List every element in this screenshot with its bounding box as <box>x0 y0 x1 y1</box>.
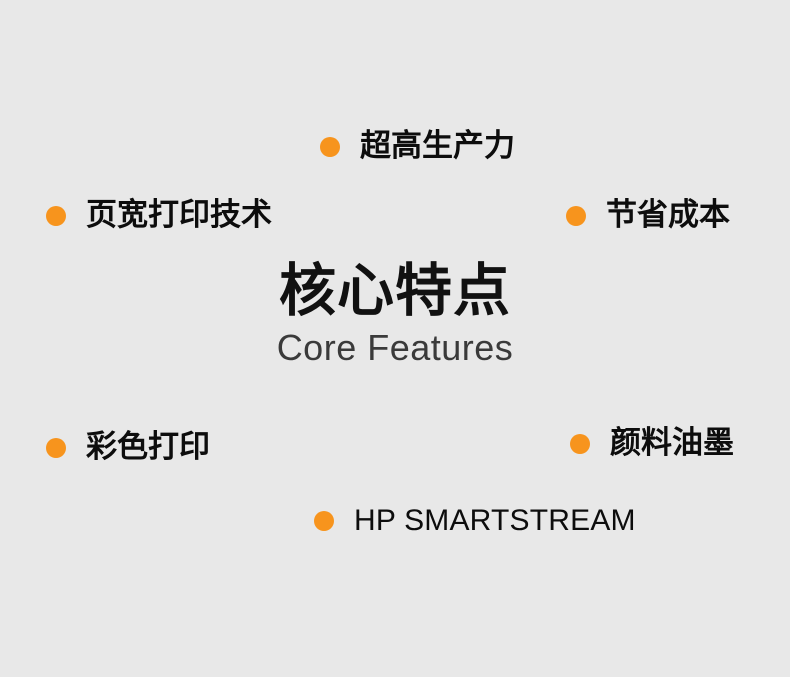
feature-item-label: 颜料油墨 <box>610 428 734 459</box>
orange-dot-icon <box>314 511 334 531</box>
feature-item-color-printing: 彩色打印 <box>46 432 210 463</box>
feature-item-label: 超高生产力 <box>360 131 515 162</box>
feature-item-label: 页宽打印技术 <box>86 200 272 231</box>
orange-dot-icon <box>46 438 66 458</box>
feature-item-pigment-ink: 颜料油墨 <box>570 428 734 459</box>
orange-dot-icon <box>570 434 590 454</box>
feature-item-pagewide-printing: 页宽打印技术 <box>46 200 272 231</box>
feature-item-cost-saving: 节省成本 <box>566 200 730 231</box>
feature-item-productivity: 超高生产力 <box>320 131 515 162</box>
orange-dot-icon <box>566 206 586 226</box>
core-features-poster: 核心特点 Core Features 超高生产力 页宽打印技术 节省成本 彩色打… <box>0 0 790 677</box>
page-title: 核心特点 <box>0 262 790 322</box>
center-heading-block: 核心特点 Core Features <box>0 262 790 367</box>
feature-item-label: 彩色打印 <box>86 432 210 463</box>
feature-item-hp-smartstream: HP SMARTSTREAM <box>314 506 636 536</box>
orange-dot-icon <box>46 206 66 226</box>
page-subtitle: Core Features <box>0 328 790 368</box>
orange-dot-icon <box>320 137 340 157</box>
feature-item-label: HP SMARTSTREAM <box>354 506 636 536</box>
feature-item-label: 节省成本 <box>606 200 730 231</box>
